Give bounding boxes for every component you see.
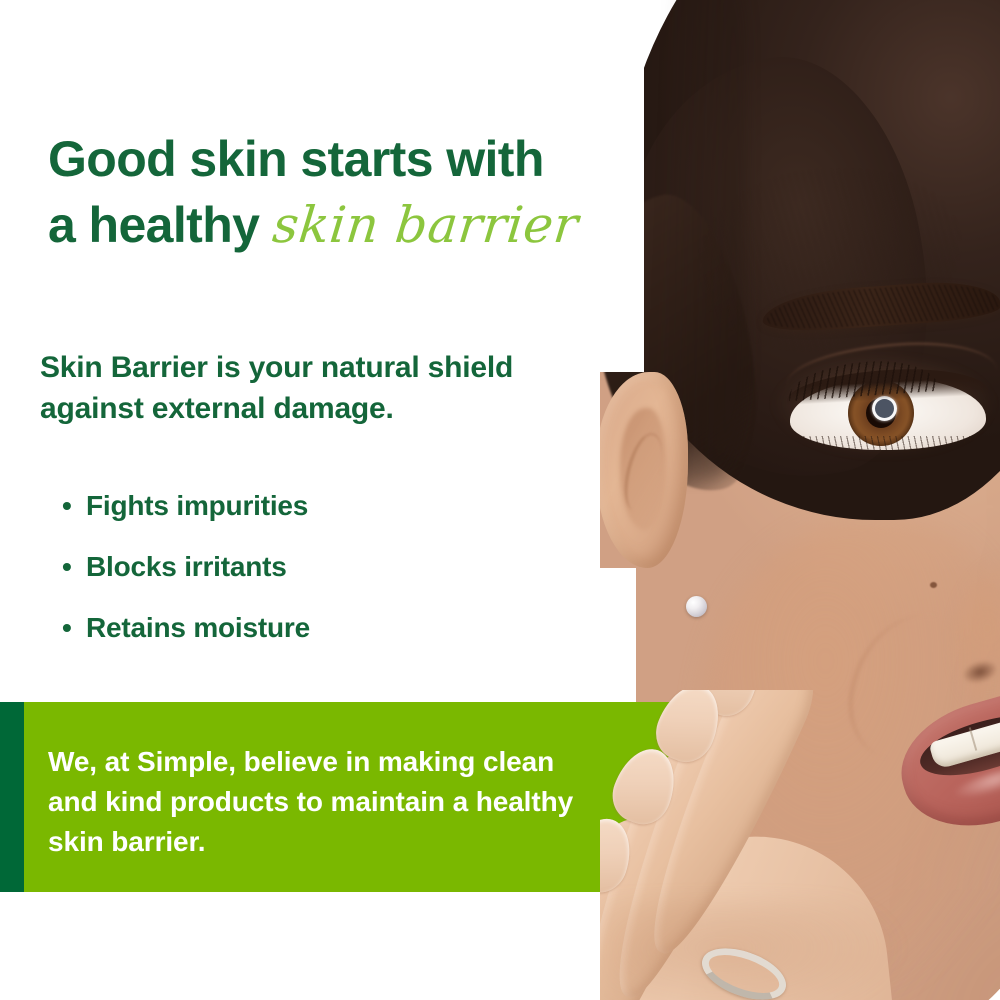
list-item: • Retains moisture: [62, 614, 582, 642]
benefit-label: Retains moisture: [86, 614, 310, 642]
benefits-list: • Fights impurities • Blocks irritants •…: [62, 492, 582, 675]
list-item: • Blocks irritants: [62, 553, 582, 581]
benefit-label: Fights impurities: [86, 492, 308, 520]
headline-line-1: Good skin starts with: [48, 131, 544, 187]
subheading: Skin Barrier is your natural shield agai…: [40, 348, 600, 430]
headline-line-2-plain: a healthy: [48, 197, 273, 253]
benefit-label: Blocks irritants: [86, 553, 287, 581]
advertisement-canvas: Good skin starts with a healthy skin bar…: [0, 0, 1000, 1000]
copy-block: Good skin starts with a healthy skin bar…: [0, 0, 1000, 1000]
bullet-icon: •: [62, 614, 86, 642]
headline-script-emphasis: skin barrier: [269, 192, 581, 258]
list-item: • Fights impurities: [62, 492, 582, 520]
page-title: Good skin starts with a healthy skin bar…: [48, 126, 648, 258]
bullet-icon: •: [62, 553, 86, 581]
bullet-icon: •: [62, 492, 86, 520]
